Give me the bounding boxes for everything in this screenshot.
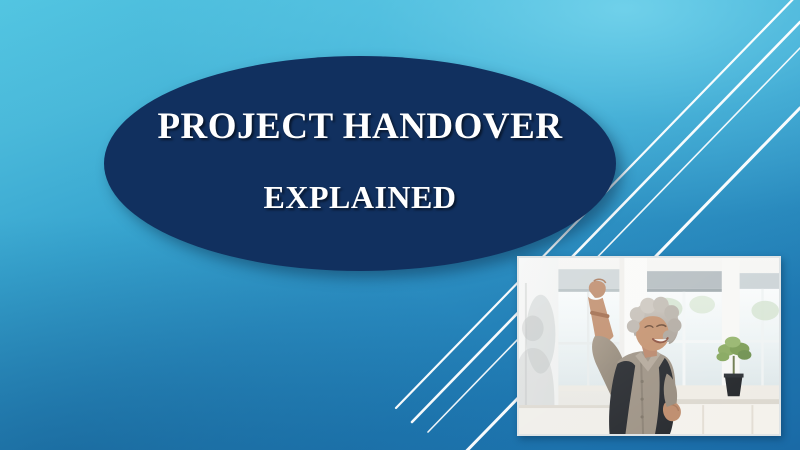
title-ellipse-shape: PROJECT HANDOVER EXPLAINED [104,56,616,271]
title-block: PROJECT HANDOVER EXPLAINED [104,108,616,218]
slide-title-line-1: PROJECT HANDOVER [104,108,616,147]
slide-photo [517,256,781,436]
presentation-slide: PROJECT HANDOVER EXPLAINED [0,0,800,450]
photo-scene-illustration [519,258,779,434]
slide-title-line-2: EXPLAINED [104,181,616,215]
